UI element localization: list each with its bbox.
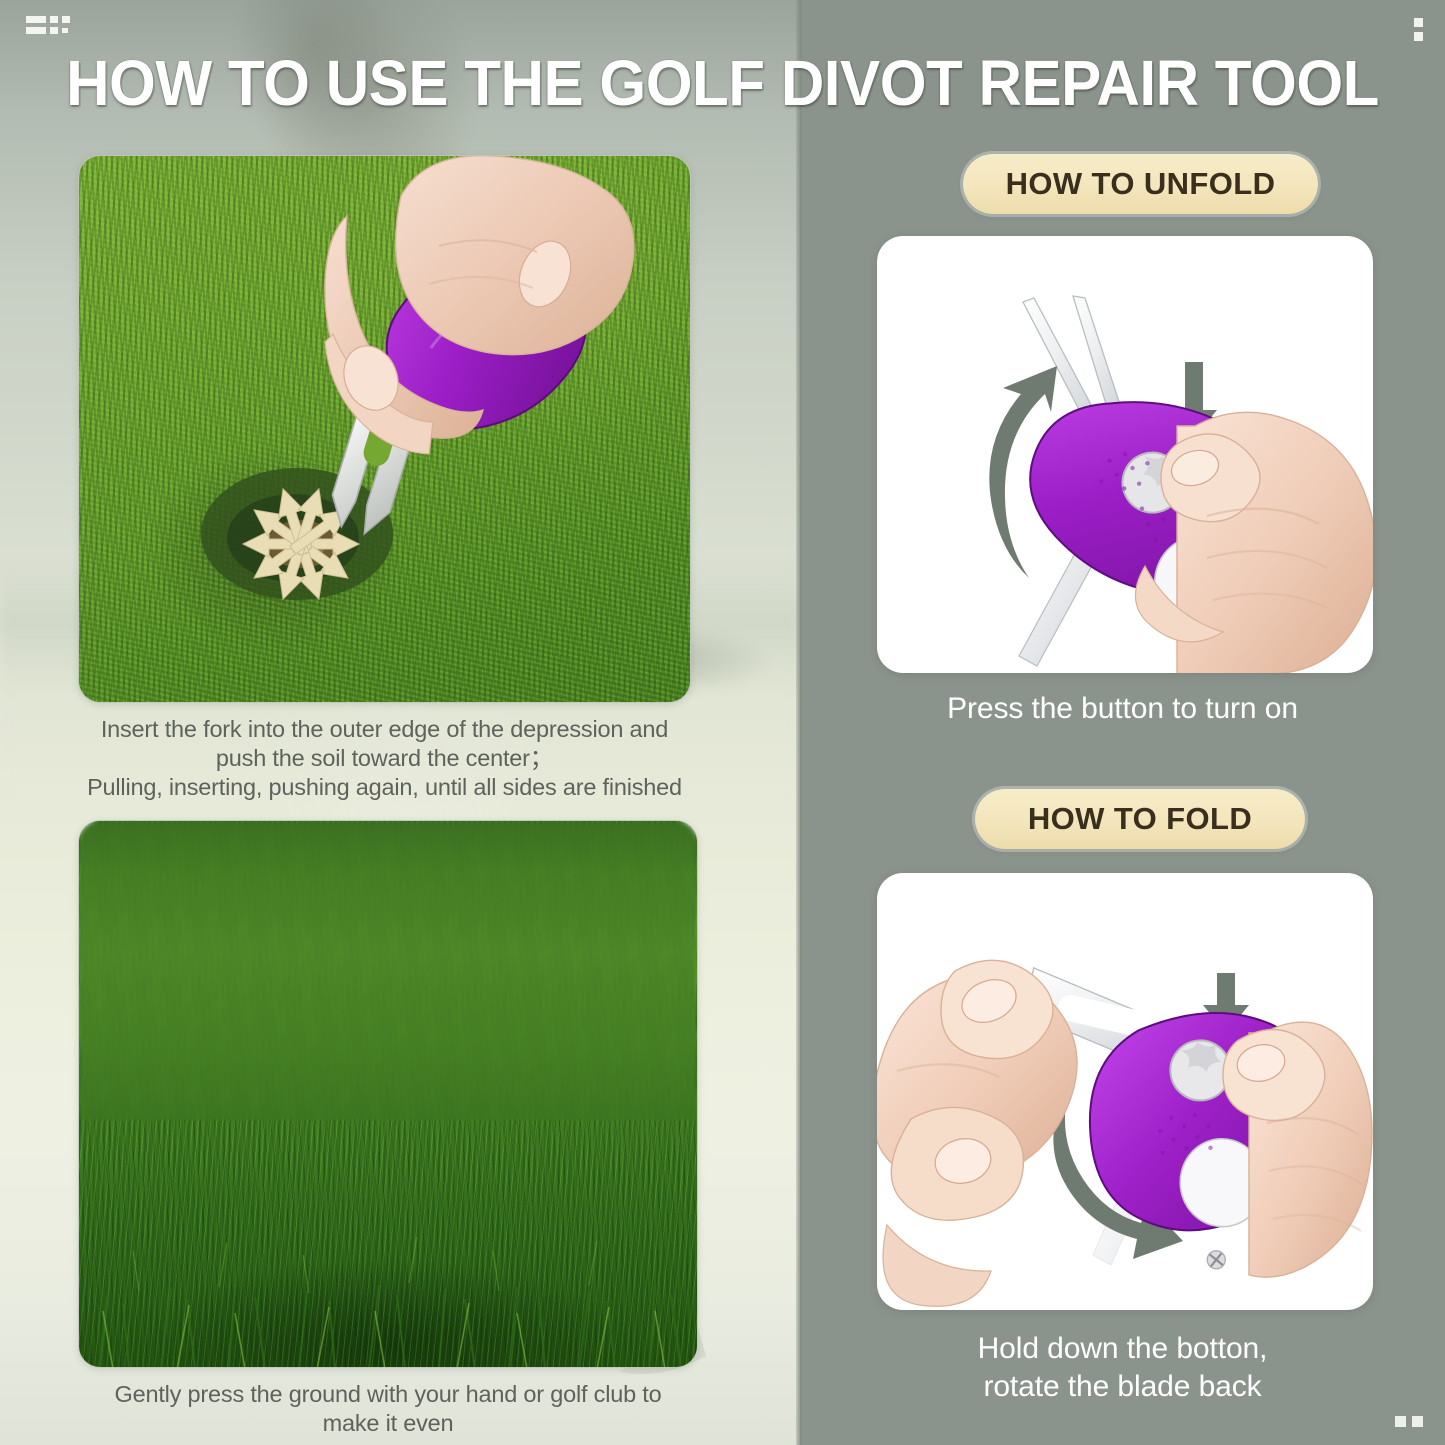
page-title: HOW TO USE THE GOLF DIVOT REPAIR TOOL (43, 46, 1401, 120)
unfold-demo-photo (877, 236, 1373, 673)
grass-closeup-photo (78, 820, 698, 1368)
divot-repair-photo (78, 155, 691, 703)
unfold-caption: Press the button to turn on (800, 690, 1445, 728)
step-press-ground: Gently press the ground with your hand o… (78, 820, 698, 1438)
step-press-ground-caption: Gently press the ground with your hand o… (78, 1368, 698, 1438)
badge-how-to-unfold-label: HOW TO UNFOLD (1006, 166, 1276, 202)
badge-how-to-unfold: HOW TO UNFOLD (963, 154, 1318, 214)
step-insert-fork: Insert the fork into the outer edge of t… (78, 155, 691, 802)
fold-demo-photo (877, 873, 1373, 1310)
badge-how-to-fold: HOW TO FOLD (975, 789, 1305, 849)
fold-caption: Hold down the botton, rotate the blade b… (800, 1330, 1445, 1406)
two-squares-horizontal-icon (1395, 1416, 1423, 1427)
step-insert-fork-caption: Insert the fork into the outer edge of t… (78, 703, 691, 802)
badge-how-to-fold-label: HOW TO FOLD (1028, 801, 1252, 837)
infographic-canvas: HOW TO USE THE GOLF DIVOT REPAIR TOOL (0, 0, 1445, 1445)
block-pattern-icon (26, 16, 70, 34)
two-squares-vertical-icon (1414, 18, 1423, 41)
